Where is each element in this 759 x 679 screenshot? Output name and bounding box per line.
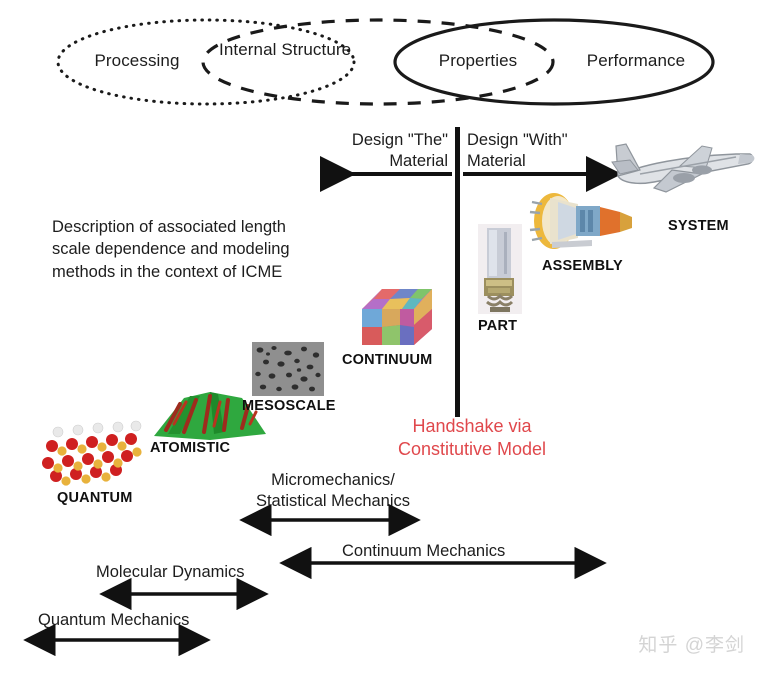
mesoscale-micrograph-image	[252, 342, 324, 396]
part-turbine-blade-image	[478, 224, 522, 314]
handshake-text: Handshake via Constitutive Model	[358, 415, 586, 460]
description-text: Description of associated length scale d…	[52, 216, 382, 283]
scale-tag-continuum: CONTINUUM	[342, 352, 432, 368]
venn-label-internal-structure: Internal Structure	[219, 41, 325, 59]
venn-label-performance: Performance	[561, 52, 711, 70]
scale-tag-system: SYSTEM	[668, 218, 729, 234]
venn-label-properties: Properties	[415, 52, 541, 70]
continuum-polycrystal-cube-image	[356, 287, 440, 359]
scale-tag-mesoscale: MESOSCALE	[242, 398, 336, 414]
scale-tag-assembly: ASSEMBLY	[542, 258, 623, 274]
scale-tag-atomistic: ATOMISTIC	[150, 440, 230, 456]
system-aircraft-image	[610, 130, 756, 208]
venn-label-processing: Processing	[72, 52, 202, 70]
design-axis-divider	[455, 127, 460, 417]
icme-diagram: Processing Internal Structure Properties…	[0, 0, 759, 679]
watermark: 知乎 @李剑	[638, 630, 745, 657]
scale-tag-part: PART	[478, 318, 517, 334]
